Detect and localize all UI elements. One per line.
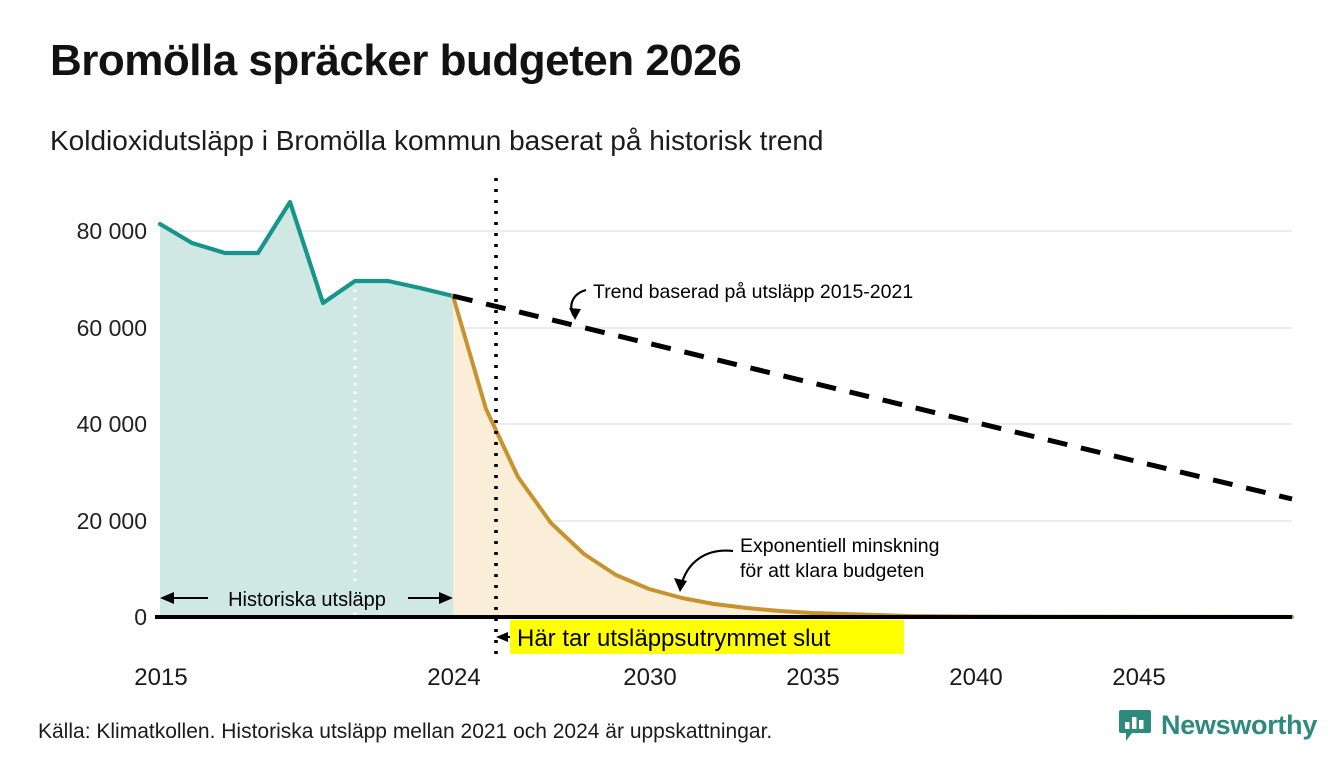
x-tick-label: 2015	[134, 664, 187, 691]
x-tick-label: 2040	[949, 664, 1002, 691]
x-axis-ticks: 2015 2024 2030 2035 2040 2045	[134, 664, 1165, 691]
x-tick-label: 2030	[623, 664, 676, 691]
x-tick-label: 2045	[1112, 664, 1165, 691]
historical-area	[160, 202, 453, 617]
chart-container: 80 000 60 000 40 000 20 000 0 2015 2024 …	[0, 0, 1340, 780]
y-tick-label: 80 000	[77, 218, 147, 244]
y-axis-ticks: 80 000 60 000 40 000 20 000 0	[77, 218, 147, 630]
newsworthy-logo: Newsworthy	[1118, 708, 1317, 742]
budget-end-label: Här tar utsläppsutrymmet slut	[517, 625, 831, 652]
exponential-annotation-line1: Exponentiell minskning	[740, 535, 939, 557]
trend-line	[453, 296, 1292, 499]
x-tick-label: 2024	[427, 664, 480, 691]
trend-annotation-label: Trend baserad på utsläpp 2015-2021	[593, 281, 913, 303]
historical-bracket-label: Historiska utsläpp	[228, 589, 386, 611]
newsworthy-bar-chart-icon	[1118, 708, 1152, 742]
source-note: Källa: Klimatkollen. Historiska utsläpp …	[38, 720, 772, 744]
exponential-annotation: Exponentiell minskning för att klara bud…	[674, 535, 939, 592]
emissions-chart: 80 000 60 000 40 000 20 000 0 2015 2024 …	[0, 0, 1340, 780]
y-tick-label: 40 000	[77, 411, 147, 437]
newsworthy-wordmark: Newsworthy	[1161, 710, 1317, 741]
y-tick-label: 20 000	[77, 508, 147, 534]
y-tick-label: 60 000	[77, 315, 147, 341]
chart-page: Bromölla spräcker budgeten 2026 Koldioxi…	[0, 0, 1340, 780]
budget-end-annotation: Här tar utsläppsutrymmet slut	[496, 620, 904, 654]
y-tick-label: 0	[134, 604, 147, 630]
trend-annotation: Trend baserad på utsläpp 2015-2021	[569, 281, 913, 320]
x-tick-label: 2035	[786, 664, 839, 691]
exponential-annotation-line2: för att klara budgeten	[740, 560, 924, 582]
